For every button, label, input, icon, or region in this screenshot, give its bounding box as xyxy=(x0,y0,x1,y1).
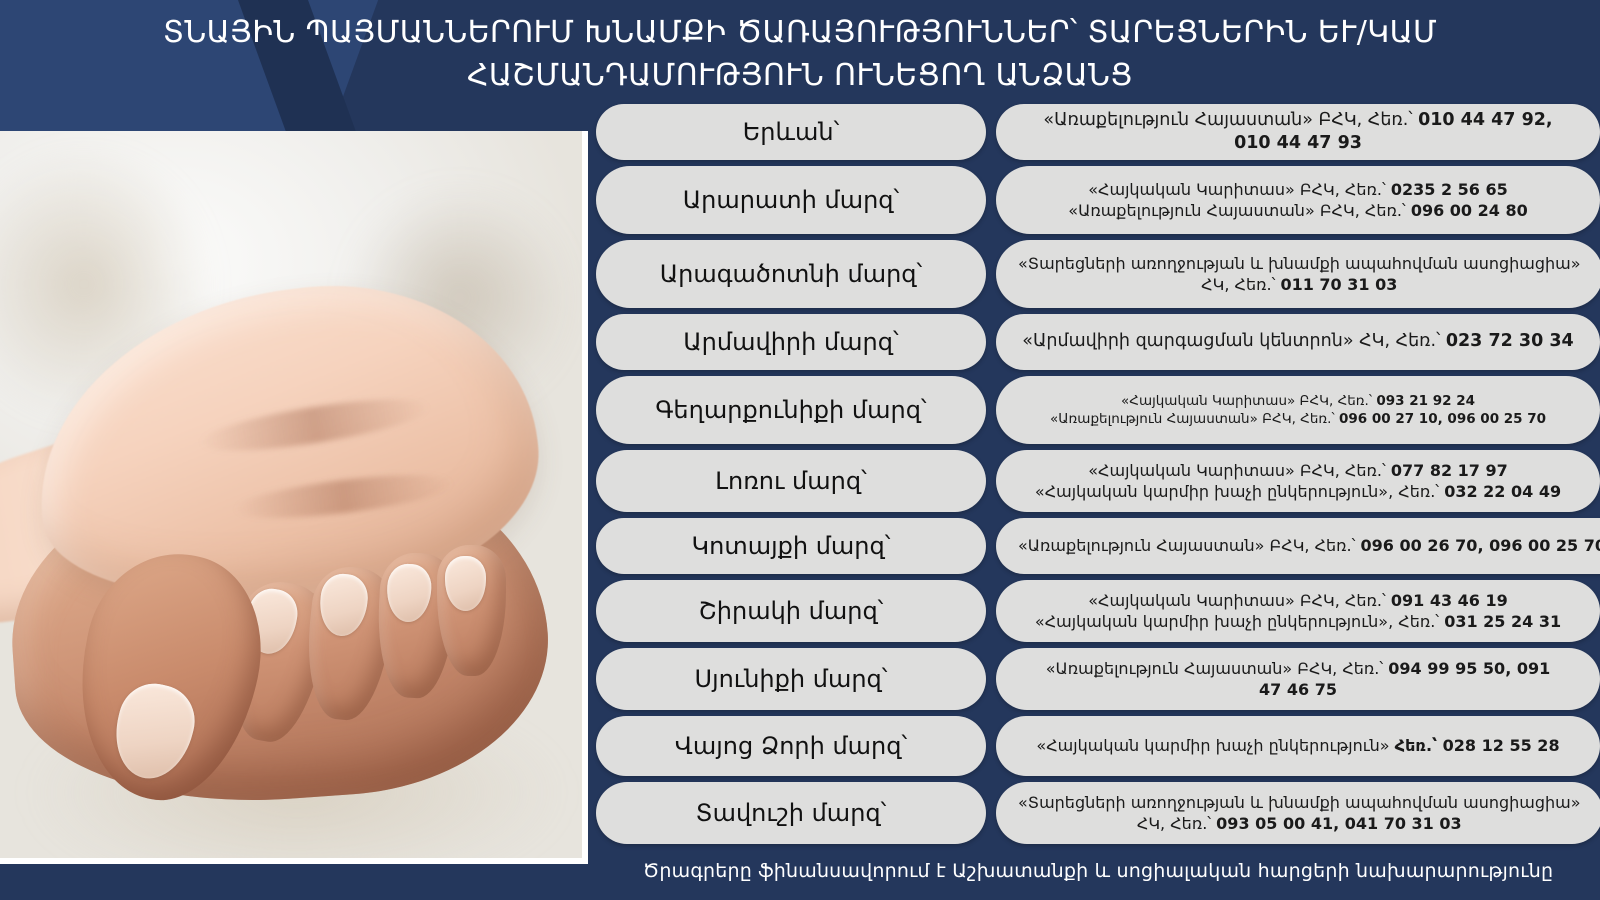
contact-line: ՀԿ, Հեռ.՝ 011 70 31 03 xyxy=(1018,274,1581,295)
contact-panel-syunik[interactable]: «Առաքելություն Հայաստան» ԲՀԿ, Հեռ.՝ 094 … xyxy=(996,648,1600,710)
table-row: Տավուշի մարզ՝ «Տարեցների առողջության և խ… xyxy=(596,782,1600,844)
contact-line: «Հայկական կարմիր խաչի ընկերություն», Հեռ… xyxy=(1018,611,1578,632)
table-row: Վայոց Ձորի մարզ՝ «Հայկական կարմիր խաչի ը… xyxy=(596,716,1600,776)
contact-panel-aragatsotn[interactable]: «Տարեցների առողջության և խնամքի ապահովմա… xyxy=(996,240,1600,308)
region-label-tavush[interactable]: Տավուշի մարզ՝ xyxy=(596,782,986,844)
contact-line: «Տարեցների առողջության և խնամքի ապահովմա… xyxy=(1018,792,1581,813)
contact-lines: «Հայկական կարմիր խաչի ընկերություն» Հեռ.… xyxy=(1018,735,1578,756)
contact-line: «Արմավիրի զարգացման կենտրոն» ՀԿ, Հեռ.՝ 0… xyxy=(1018,330,1578,353)
footer: Ծրագրերը ֆինանսավորում է Աշխատանքի և սոց… xyxy=(596,848,1600,894)
contact-line: 010 44 47 93 xyxy=(1018,132,1578,155)
region-label-gegharkunik[interactable]: Գեղարքունիքի մարզ՝ xyxy=(596,376,986,444)
contact-line: «Առաքելություն Հայաստան» ԲՀԿ, Հեռ.՝ 096 … xyxy=(1018,200,1578,221)
contact-lines: «Տարեցների առողջության և խնամքի ապահովմա… xyxy=(1018,792,1581,835)
contact-line: «Հայկական Կարիտաս» ԲՀԿ, Հեռ.՝ 077 82 17 … xyxy=(1018,460,1578,481)
region-label-ararat[interactable]: Արարատի մարզ՝ xyxy=(596,166,986,234)
contact-line: «Հայկական կարմիր խաչի ընկերություն», Հեռ… xyxy=(1018,481,1578,502)
region-label-syunik[interactable]: Սյունիքի մարզ՝ xyxy=(596,648,986,710)
region-label-lori[interactable]: Լոռու մարզ՝ xyxy=(596,450,986,512)
contact-lines: «Առաքելություն Հայաստան» ԲՀԿ, Հեռ.՝ 094 … xyxy=(1018,658,1578,701)
table-row: Կոտայքի մարզ՝ «Առաքելություն Հայաստան» Բ… xyxy=(596,518,1600,574)
contact-panel-lori[interactable]: «Հայկական Կարիտաս» ԲՀԿ, Հեռ.՝ 077 82 17 … xyxy=(996,450,1600,512)
contact-panel-tavush[interactable]: «Տարեցների առողջության և խնամքի ապահովմա… xyxy=(996,782,1600,844)
contact-line: «Առաքելություն Հայաստան» ԲՀԿ, Հեռ.՝ 094 … xyxy=(1018,658,1578,679)
region-label-aragatsotn[interactable]: Արագածոտնի մարզ՝ xyxy=(596,240,986,308)
hands-photo xyxy=(0,131,582,858)
region-label-kotayk[interactable]: Կոտայքի մարզ՝ xyxy=(596,518,986,574)
table-row: Շիրակի մարզ՝ «Հայկական Կարիտաս» ԲՀԿ, Հեռ… xyxy=(596,580,1600,642)
photo-frame xyxy=(0,131,588,864)
table-row: Երևան՝ «Առաքելություն Հայաստան» ԲՀԿ, Հեռ… xyxy=(596,104,1600,160)
table-row: Սյունիքի մարզ՝ «Առաքելություն Հայաստան» … xyxy=(596,648,1600,710)
contact-line: «Առաքելություն Հայաստան» ԲՀԿ, Հեռ.՝ 010 … xyxy=(1018,109,1578,132)
contact-line: «Հայկական կարմիր խաչի ընկերություն» Հեռ.… xyxy=(1018,735,1578,756)
contact-lines: «Հայկական Կարիտաս» ԲՀԿ, Հեռ.՝ 077 82 17 … xyxy=(1018,460,1578,503)
table-row: Արմավիրի մարզ՝ «Արմավիրի զարգացման կենտր… xyxy=(596,314,1600,370)
header: ՏՆԱՅԻՆ ՊԱՅՄԱՆՆԵՐՈՒՄ ԽՆԱՄՔԻ ԾԱՌԱՅՈՒԹՅՈՒՆՆ… xyxy=(0,0,1600,110)
contact-panel-gegharkunik[interactable]: «Հայկական Կարիտաս» ԲՀԿ, Հեռ.՝ 093 21 92 … xyxy=(996,376,1600,444)
contact-lines: «Առաքելություն Հայաստան» ԲՀԿ, Հեռ.՝ 010 … xyxy=(1018,109,1578,156)
contact-line: «Տարեցների առողջության և խնամքի ապահովմա… xyxy=(1018,253,1581,274)
contact-line: «Հայկական Կարիտաս» ԲՀԿ, Հեռ.՝ 0235 2 56 … xyxy=(1018,179,1578,200)
table-row: Գեղարքունիքի մարզ՝ «Հայկական Կարիտաս» ԲՀ… xyxy=(596,376,1600,444)
table-row: Արագածոտնի մարզ՝ «Տարեցների առողջության … xyxy=(596,240,1600,308)
contact-line: ՀԿ, Հեռ.՝ 093 05 00 41, 041 70 31 03 xyxy=(1018,813,1581,834)
table-row: Արարատի մարզ՝ «Հայկական Կարիտաս» ԲՀԿ, Հե… xyxy=(596,166,1600,234)
contact-line: «Առաքելություն Հայաստան» ԲՀԿ, Հեռ.՝ 096 … xyxy=(1018,410,1578,428)
contact-lines: «Հայկական Կարիտաս» ԲՀԿ, Հեռ.՝ 0235 2 56 … xyxy=(1018,179,1578,222)
region-label-armavir[interactable]: Արմավիրի մարզ՝ xyxy=(596,314,986,370)
contact-panel-armavir[interactable]: «Արմավիրի զարգացման կենտրոն» ՀԿ, Հեռ.՝ 0… xyxy=(996,314,1600,370)
contact-panel-kotayk[interactable]: «Առաքելություն Հայաստան» ԲՀԿ, Հեռ.՝ 096 … xyxy=(996,518,1600,574)
table-row: Լոռու մարզ՝ «Հայկական Կարիտաս» ԲՀԿ, Հեռ.… xyxy=(596,450,1600,512)
funding-note: Ծրագրերը ֆինանսավորում է Աշխատանքի և սոց… xyxy=(643,860,1553,882)
contact-panel-vayots-dzor[interactable]: «Հայկական կարմիր խաչի ընկերություն» Հեռ.… xyxy=(996,716,1600,776)
region-label-vayots-dzor[interactable]: Վայոց Ձորի մարզ՝ xyxy=(596,716,986,776)
contact-lines: «Հայկական Կարիտաս» ԲՀԿ, Հեռ.՝ 093 21 92 … xyxy=(1018,392,1578,428)
contact-line: «Առաքելություն Հայաստան» ԲՀԿ, Հեռ.՝ 096 … xyxy=(1018,535,1600,556)
contact-lines: «Արմավիրի զարգացման կենտրոն» ՀԿ, Հեռ.՝ 0… xyxy=(1018,330,1578,353)
contact-panel-yerevan[interactable]: «Առաքելություն Հայաստան» ԲՀԿ, Հեռ.՝ 010 … xyxy=(996,104,1600,160)
contact-lines: «Առաքելություն Հայաստան» ԲՀԿ, Հեռ.՝ 096 … xyxy=(1018,535,1600,556)
contact-line: «Հայկական Կարիտաս» ԲՀԿ, Հեռ.՝ 093 21 92 … xyxy=(1018,392,1578,410)
contact-panel-shirak[interactable]: «Հայկական Կարիտաս» ԲՀԿ, Հեռ.՝ 091 43 46 … xyxy=(996,580,1600,642)
contact-lines: «Հայկական Կարիտաս» ԲՀԿ, Հեռ.՝ 091 43 46 … xyxy=(1018,590,1578,633)
contact-line: 47 46 75 xyxy=(1018,679,1578,700)
region-label-yerevan[interactable]: Երևան՝ xyxy=(596,104,986,160)
regions-contacts-board: Երևան՝ «Առաքելություն Հայաստան» ԲՀԿ, Հեռ… xyxy=(596,104,1600,844)
region-label-shirak[interactable]: Շիրակի մարզ՝ xyxy=(596,580,986,642)
contact-line: «Հայկական Կարիտաս» ԲՀԿ, Հեռ.՝ 091 43 46 … xyxy=(1018,590,1578,611)
page-title: ՏՆԱՅԻՆ ՊԱՅՄԱՆՆԵՐՈՒՄ ԽՆԱՄՔԻ ԾԱՌԱՅՈՒԹՅՈՒՆՆ… xyxy=(75,12,1525,97)
contact-lines: «Տարեցների առողջության և խնամքի ապահովմա… xyxy=(1018,253,1581,296)
contact-panel-ararat[interactable]: «Հայկական Կարիտաս» ԲՀԿ, Հեռ.՝ 0235 2 56 … xyxy=(996,166,1600,234)
